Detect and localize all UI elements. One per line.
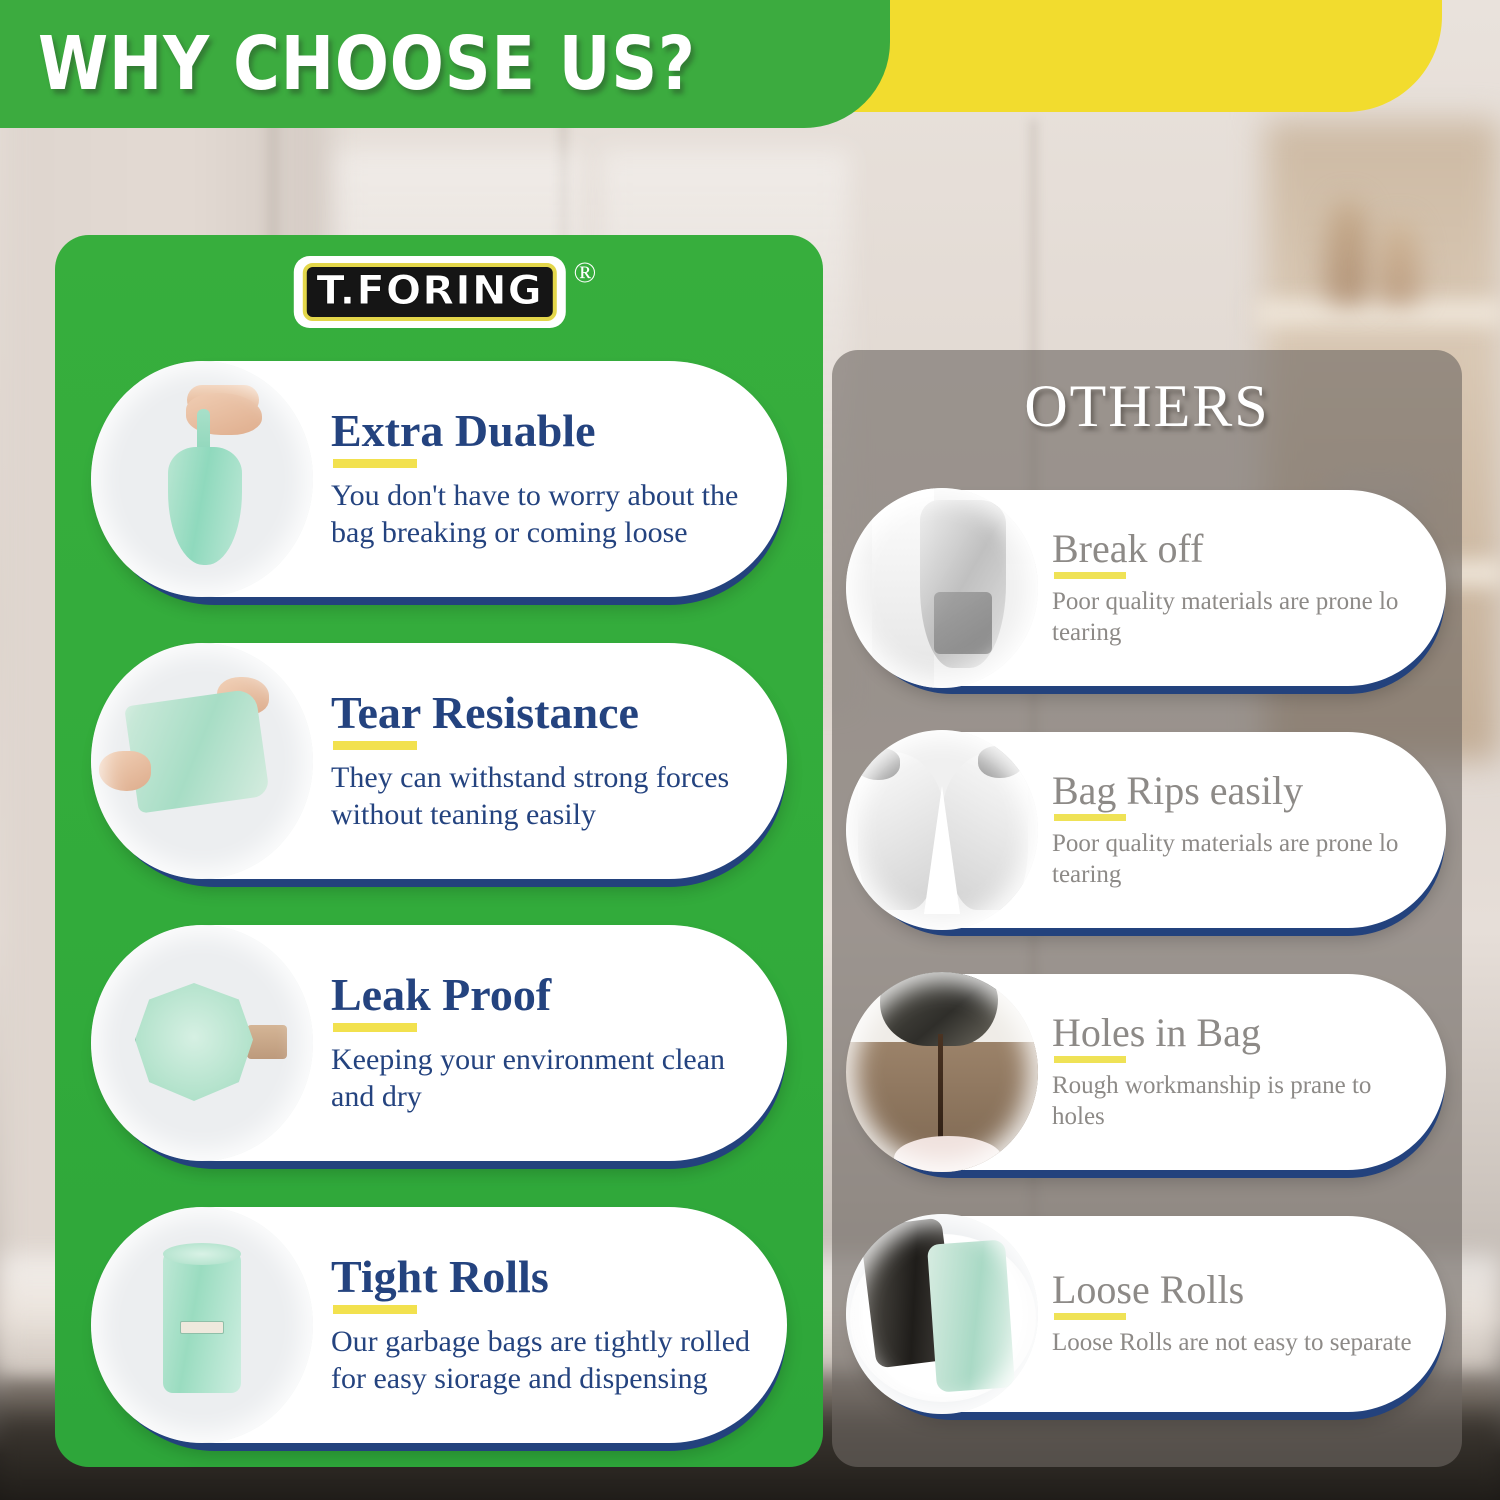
feature-card-body: Tear Resistance They can withstand stron… bbox=[313, 689, 787, 833]
feature-title: Tear Resistance bbox=[331, 689, 767, 737]
logo-plate: T.FORING bbox=[294, 256, 566, 328]
drawback-card-body: Break off Poor quality materials are pro… bbox=[1038, 528, 1446, 648]
drawback-title: Bag Rips easily bbox=[1052, 770, 1430, 812]
drawback-title: Loose Rolls bbox=[1052, 1269, 1412, 1311]
drawback-thumbnail-holes-in-bag bbox=[846, 972, 1038, 1172]
drawback-thumbnail-loose-rolls bbox=[846, 1214, 1038, 1414]
feature-description: Keeping your environment clean and dry bbox=[331, 1042, 767, 1115]
title-underline bbox=[1054, 1056, 1126, 1063]
drawback-card[interactable]: Loose Rolls Loose Rolls are not easy to … bbox=[854, 1216, 1446, 1412]
feature-description: They can withstand strong forces without… bbox=[331, 760, 767, 833]
drawback-description: Poor quality materials are prone lo tear… bbox=[1052, 587, 1430, 648]
feature-card-body: Leak Proof Keeping your environment clea… bbox=[313, 971, 787, 1115]
drawback-card[interactable]: Break off Poor quality materials are pro… bbox=[854, 490, 1446, 686]
drawback-thumbnail-bag-rips bbox=[846, 730, 1038, 930]
drawback-card-body: Loose Rolls Loose Rolls are not easy to … bbox=[1038, 1269, 1428, 1359]
brand-logo: T.FORING ® bbox=[294, 256, 597, 328]
banner-green: WHY CHOOSE US? bbox=[0, 0, 890, 128]
title-underline bbox=[333, 1023, 417, 1032]
others-heading: OTHERS bbox=[832, 372, 1462, 441]
feature-card-body: Tight Rolls Our garbage bags are tightly… bbox=[313, 1253, 787, 1397]
drawback-title: Break off bbox=[1052, 528, 1430, 570]
feature-title: Tight Rolls bbox=[331, 1253, 767, 1301]
brand-panel: T.FORING ® Extra Duable You don't have t… bbox=[55, 235, 823, 1467]
background-vase-2 bbox=[1378, 222, 1420, 304]
drawback-card-body: Holes in Bag Rough workmanship is prane … bbox=[1038, 1012, 1446, 1132]
drawback-description: Rough workmanship is prane to holes bbox=[1052, 1071, 1430, 1132]
drawback-thumbnail-break-off bbox=[846, 488, 1038, 688]
title-underline bbox=[1054, 814, 1126, 821]
title-underline bbox=[1054, 572, 1126, 579]
title-underline bbox=[333, 459, 417, 468]
drawback-card[interactable]: Holes in Bag Rough workmanship is prane … bbox=[854, 974, 1446, 1170]
feature-card[interactable]: Tear Resistance They can withstand stron… bbox=[97, 643, 787, 879]
feature-card[interactable]: Leak Proof Keeping your environment clea… bbox=[97, 925, 787, 1161]
page-title: WHY CHOOSE US? bbox=[38, 27, 696, 101]
feature-title: Extra Duable bbox=[331, 407, 767, 455]
logo-text: T.FORING bbox=[316, 271, 542, 311]
drawback-title: Holes in Bag bbox=[1052, 1012, 1430, 1054]
feature-title: Leak Proof bbox=[331, 971, 767, 1019]
feature-card-body: Extra Duable You don't have to worry abo… bbox=[313, 407, 787, 551]
background-vase-1 bbox=[1325, 200, 1371, 304]
feature-thumbnail-leak-proof-bag bbox=[91, 925, 313, 1161]
registered-trademark-icon: ® bbox=[574, 258, 597, 288]
feature-card[interactable]: Tight Rolls Our garbage bags are tightly… bbox=[97, 1207, 787, 1443]
background-shelf-board-1 bbox=[1255, 300, 1500, 326]
drawback-description: Loose Rolls are not easy to separate bbox=[1052, 1328, 1412, 1359]
title-underline bbox=[1054, 1313, 1126, 1320]
logo-inner-frame: T.FORING bbox=[303, 263, 557, 321]
feature-description: Our garbage bags are tightly rolled for … bbox=[331, 1324, 767, 1397]
others-panel: OTHERS Break off Poor quality materials … bbox=[832, 350, 1462, 1467]
drawback-card[interactable]: Bag Rips easily Poor quality materials a… bbox=[854, 732, 1446, 928]
feature-thumbnail-stretching-bag bbox=[91, 643, 313, 879]
drawback-card-body: Bag Rips easily Poor quality materials a… bbox=[1038, 770, 1446, 890]
feature-thumbnail-hand-holding-bag bbox=[91, 361, 313, 597]
drawback-description: Poor quality materials are prone lo tear… bbox=[1052, 829, 1430, 890]
title-underline bbox=[333, 1305, 417, 1314]
feature-thumbnail-tight-roll bbox=[91, 1207, 313, 1443]
feature-card[interactable]: Extra Duable You don't have to worry abo… bbox=[97, 361, 787, 597]
title-underline bbox=[333, 741, 417, 750]
feature-description: You don't have to worry about the bag br… bbox=[331, 478, 767, 551]
